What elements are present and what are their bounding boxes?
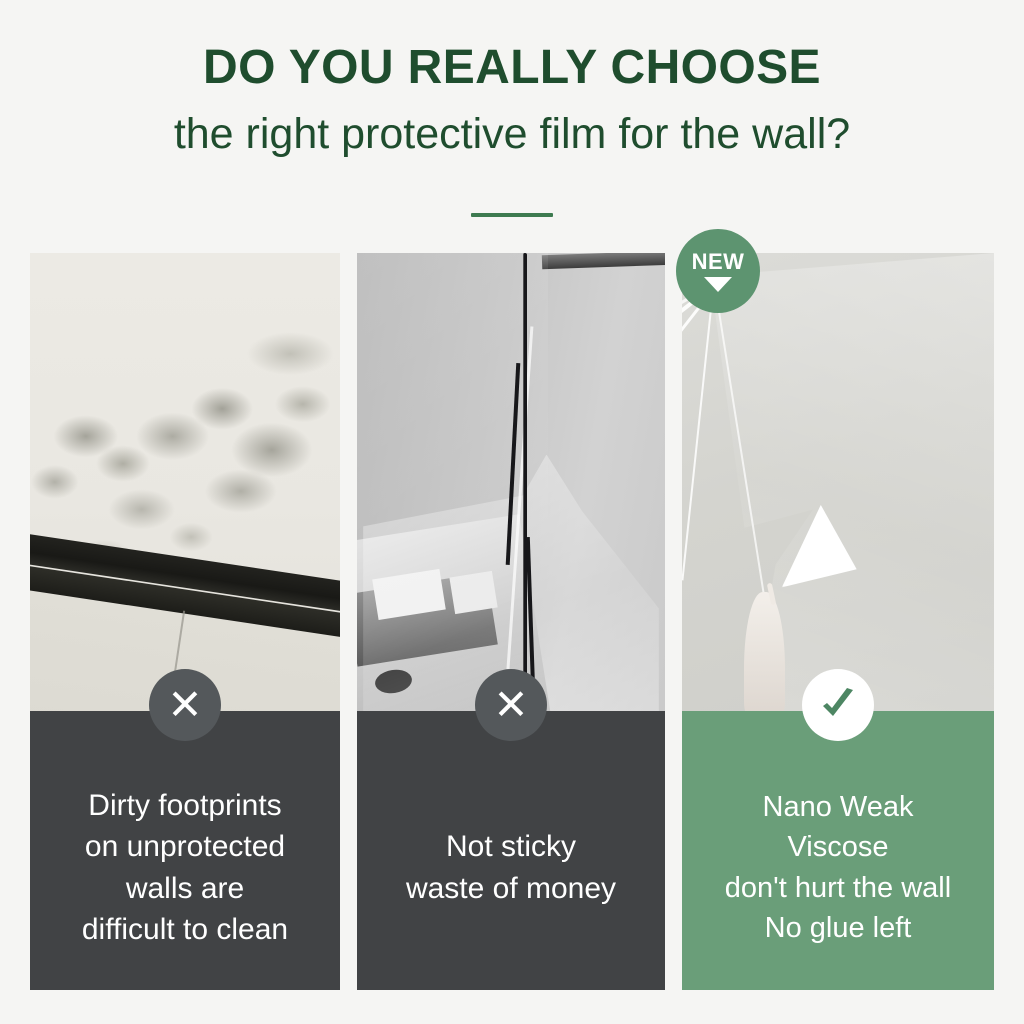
header-divider-rule bbox=[471, 213, 553, 217]
x-mark-icon: ✕ bbox=[149, 669, 221, 741]
page-title: DO YOU REALLY CHOOSE bbox=[0, 0, 1024, 92]
panel-unprotected-wall[interactable]: ✕ Dirty footprints on unprotected walls … bbox=[30, 253, 340, 990]
poster-header: DO YOU REALLY CHOOSE the right protectiv… bbox=[0, 0, 1024, 156]
check-glyph bbox=[816, 683, 860, 727]
photo-loose-plastic-sheet bbox=[357, 253, 665, 711]
hanging-cable-top bbox=[523, 253, 527, 711]
caption-text: Dirty footprints on unprotected walls ar… bbox=[82, 785, 288, 951]
x-mark-icon: ✕ bbox=[475, 669, 547, 741]
page-subtitle: the right protective film for the wall? bbox=[0, 92, 1024, 156]
down-triangle-icon bbox=[704, 277, 732, 292]
photo-dirty-wall bbox=[30, 253, 340, 711]
new-badge: NEW bbox=[676, 229, 760, 313]
panel-not-sticky-film[interactable]: ✕ Not sticky waste of money bbox=[357, 253, 665, 990]
check-mark-icon bbox=[802, 669, 874, 741]
x-glyph: ✕ bbox=[493, 684, 528, 726]
photo-peeling-nano-film bbox=[682, 253, 994, 711]
promo-poster: DO YOU REALLY CHOOSE the right protectiv… bbox=[0, 0, 1024, 1024]
x-glyph: ✕ bbox=[167, 684, 202, 726]
panel-nano-film[interactable]: Nano Weak Viscose don't hurt the wall No… bbox=[682, 253, 994, 990]
caption-text: Not sticky waste of money bbox=[406, 826, 616, 909]
caption-block: Nano Weak Viscose don't hurt the wall No… bbox=[682, 711, 994, 990]
caption-block: Dirty footprints on unprotected walls ar… bbox=[30, 711, 340, 990]
new-badge-label: NEW bbox=[692, 251, 745, 273]
caption-text: Nano Weak Viscose don't hurt the wall No… bbox=[725, 787, 951, 947]
caption-block: Not sticky waste of money bbox=[357, 711, 665, 990]
comparison-panels: ✕ Dirty footprints on unprotected walls … bbox=[30, 253, 994, 990]
